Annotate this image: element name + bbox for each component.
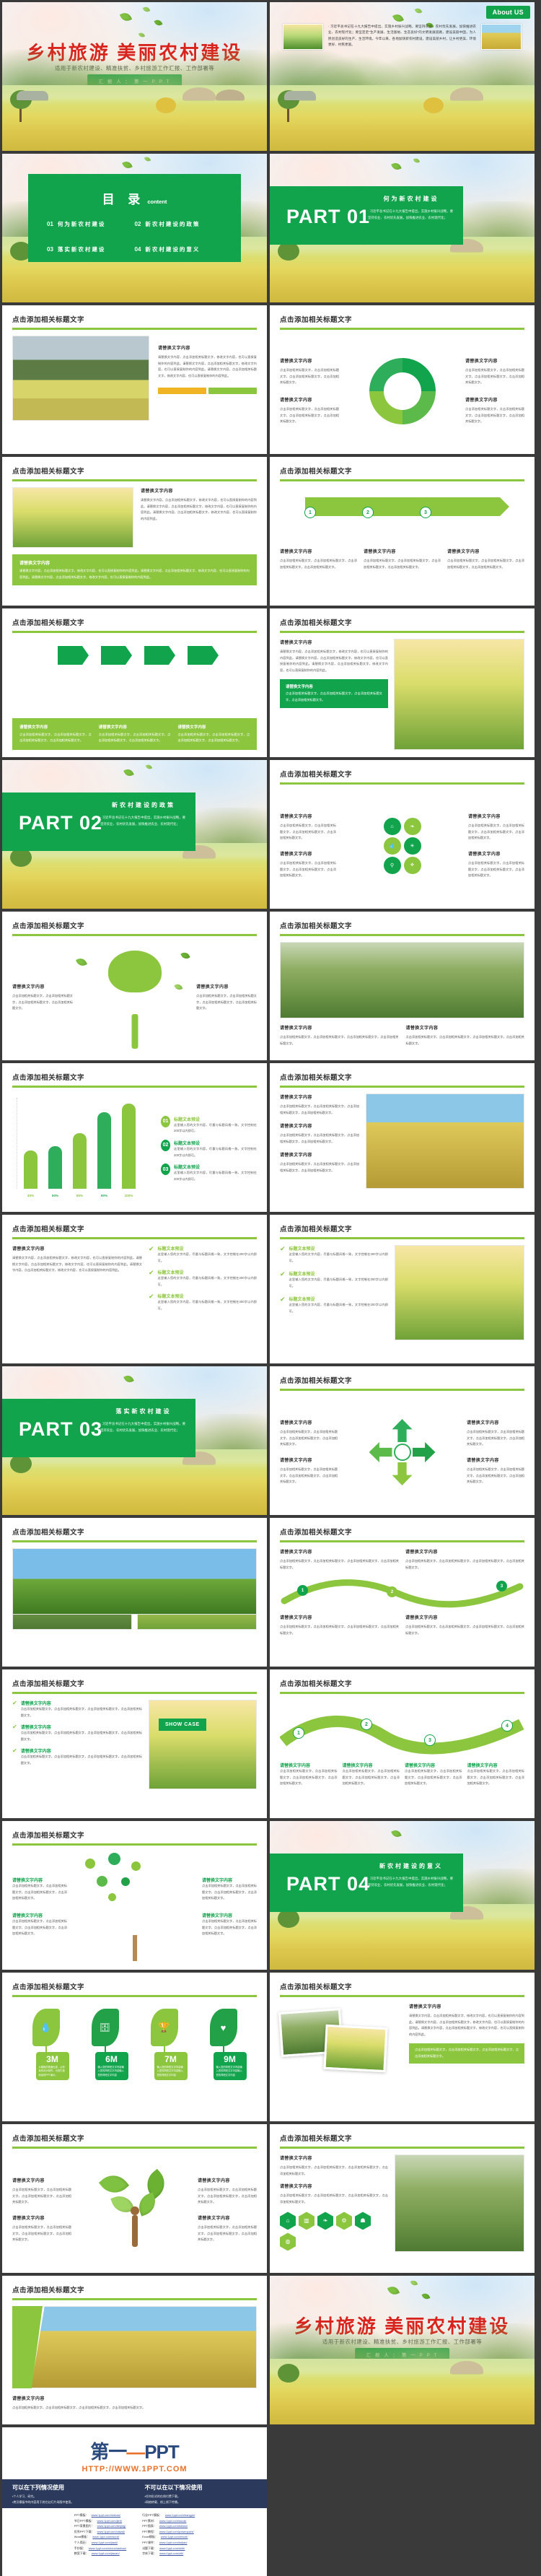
slide-icon-cluster[interactable]: 点击添加相关标题文字 请替换文字内容点击添加相关标题文字，点击添加相关标题文字，… bbox=[270, 760, 535, 909]
catalog-item[interactable]: 02新农村建设的政策 bbox=[135, 220, 223, 228]
ground bbox=[270, 1904, 535, 1970]
milestone-value: 3M bbox=[39, 2055, 66, 2064]
person-head bbox=[131, 2206, 139, 2215]
link-row[interactable]: 试题下载：www.1ppt.com/shiti/ bbox=[142, 2546, 195, 2551]
title-rule bbox=[12, 631, 257, 633]
slide-header: 点击添加相关标题文字 bbox=[12, 314, 257, 324]
caption-title: 请替换文字内容 bbox=[19, 724, 92, 730]
photo-placeholder[interactable] bbox=[12, 336, 149, 421]
check-item[interactable]: ✔标题文本预设这里输入您的文字内容，尽量与标题风格一致，文字控制在200字以内即… bbox=[280, 1245, 388, 1264]
slide-header: 点击添加相关标题文字 bbox=[12, 2284, 257, 2295]
section-subtitle: 请替换文字内容 bbox=[280, 850, 336, 857]
link-url[interactable]: www.1ppt.com/ziti/ bbox=[159, 2551, 183, 2555]
legend-item[interactable]: 01 标题文本预设这里输入您的文字内容，尽量与标题风格一致，文字控制在200字以… bbox=[161, 1116, 257, 1135]
body-paragraph: 点击添加相关标题文字，点击添加相关标题文字，点击添加相关标题文字，点击添加相关标… bbox=[467, 1467, 524, 1485]
catalog-item-number: 02 bbox=[135, 221, 141, 227]
step-title: 请替换文字内容 bbox=[467, 1762, 525, 1768]
slide-ribbon-steps[interactable]: 点击添加相关标题文字 1 2 3 4 请替换文字内容点击添加相关标题文字，点击添… bbox=[270, 1669, 535, 1818]
link-url[interactable]: www.1ppt.com/word/ bbox=[92, 2535, 119, 2538]
highlight-box: 请替换文字内容 点击添加相关标题文字，点击添加相关标题文字，点击添加相关标题文字… bbox=[280, 679, 388, 707]
link-url[interactable]: www.1ppt.com/excel/ bbox=[161, 2535, 188, 2538]
legend-item[interactable]: 02 标题文本预设这里输入您的文字内容，尽量与标题风格一致，文字控制在200字以… bbox=[161, 1140, 257, 1158]
slide-part-04[interactable]: PART 04 新农村建设的意义 · 习近平总书记在十九大报告中提出，实施乡村振… bbox=[270, 1821, 535, 1970]
link-row[interactable]: PPT课件：www.1ppt.com/kejian/ bbox=[142, 2540, 195, 2546]
title-rule bbox=[280, 2147, 524, 2149]
slide-body: 请替换文字内容点击添加相关标题文字，点击添加相关标题文字，点击添加相关标题文字，… bbox=[280, 790, 524, 901]
milestone-item[interactable]: 🏆 7M 输入您的简短文字内容输入您的简短文字内容输入您的简短文字内容 bbox=[138, 2009, 190, 2110]
link-label: Excel模板： bbox=[142, 2535, 158, 2538]
body-paragraph: 点击添加相关标题文字，点击添加相关标题文字，点击添加相关标题文字，点击添加相关标… bbox=[468, 823, 524, 842]
allow-column: 可以在下列情况使用 ▪个人学习、研究。 ▪拷贝模板中的内容用于其它幻灯片母版中使… bbox=[2, 2479, 135, 2508]
winding-path-icon bbox=[280, 1575, 524, 1611]
slide-header: 点击添加相关标题文字 bbox=[280, 1678, 524, 1688]
milestone-card: 6M 输入您的简短文字内容输入您的简短文字内容输入您的简短文字内容 bbox=[95, 2052, 128, 2080]
links-left: PPT模板：www.1ppt.com/moban/ 节日PPT模板：www.1p… bbox=[74, 2512, 126, 2557]
node-body: 点击添加相关标题文字，点击添加相关标题文字，点击添加相关标题文字，点击添加相关标… bbox=[202, 1883, 257, 1902]
photo-placeholder[interactable] bbox=[394, 639, 524, 750]
item-title: 请替换文字内容 bbox=[21, 1747, 142, 1754]
link-row[interactable]: 手抄报：www.1ppt.com/shouchaobao/ bbox=[74, 2546, 126, 2551]
step-marker[interactable]: 2 bbox=[362, 507, 374, 518]
legend-item[interactable]: 03 标题文本预设这里输入您的文字内容，尽量与标题风格一致，文字控制在200字以… bbox=[161, 1163, 257, 1182]
bar-label: 100% bbox=[125, 1194, 133, 1197]
tree-icon[interactable]: ⟡ bbox=[404, 857, 421, 874]
tree-network-graphic[interactable] bbox=[71, 1851, 198, 1962]
link-row[interactable]: Word模板：www.1ppt.com/word/ bbox=[74, 2534, 126, 2540]
hut bbox=[17, 91, 48, 100]
node-body: 点击添加相关标题文字，点击添加相关标题文字，点击添加相关标题文字，点击添加相关标… bbox=[202, 1918, 257, 1937]
home-icon[interactable]: ⌂ bbox=[384, 818, 401, 835]
photo-placeholder[interactable] bbox=[395, 1245, 524, 1340]
slide-about-us[interactable]: About US · 习近平总书记在十九大报告中提出，实施乡村振兴战略，要坚持农… bbox=[270, 2, 535, 151]
milestone-item[interactable]: 💧 3M 从模板的角度出发，从形象的设计制作，为您打造精品的PPT演示。 bbox=[20, 2009, 72, 2110]
check-item[interactable]: ✔标题文本预设这里输入您的文字内容，尽量与标题风格一致，文字控制在200字以内即… bbox=[149, 1245, 257, 1264]
page-title: 点击添加相关标题文字 bbox=[280, 769, 524, 779]
slide-body: 请替换文字内容点击添加相关标题文字，点击添加相关标题文字，点击添加相关标题文字，… bbox=[12, 1851, 257, 1962]
title-rule bbox=[12, 1237, 257, 1239]
caption-paragraph: 点击添加相关标题文字，点击添加相关标题文字，点击添加相关标题文字，点击添加相关标… bbox=[19, 732, 92, 744]
section-subtitle: 请替换文字内容 bbox=[409, 2003, 524, 2009]
bar: 50% bbox=[48, 1146, 62, 1189]
legend-number: 03 bbox=[161, 1163, 170, 1175]
link-label: PPT课件： bbox=[142, 2541, 157, 2544]
drop-icon[interactable]: 💧 bbox=[384, 837, 401, 855]
body-paragraph: 点击添加相关标题文字，点击添加相关标题文字，点击添加相关标题文字，点击添加相关标… bbox=[12, 2224, 71, 2243]
slide-checklist[interactable]: 点击添加相关标题文字 请替换文字内容请替换文字内容，点击添加相关标题文字，修改文… bbox=[2, 1215, 267, 1363]
about-us-tag[interactable]: About US bbox=[486, 6, 530, 19]
link-url[interactable]: www.1ppt.com/sucai/ bbox=[159, 2519, 187, 2523]
title-rule bbox=[280, 1692, 524, 1694]
title-rule bbox=[280, 631, 524, 633]
bar: 45% bbox=[24, 1151, 38, 1189]
photo-placeholder[interactable] bbox=[366, 1093, 524, 1189]
milestone-body: 输入您的简短文字内容输入您的简短文字内容输入您的简短文字内容 bbox=[157, 2066, 185, 2077]
body-paragraph: 点击添加相关标题文字，点击添加相关标题文字，点击添加相关标题文字，点击添加相关标… bbox=[405, 1558, 524, 1571]
bar: 100% bbox=[122, 1104, 136, 1189]
body-paragraph: 点击添加相关标题文字，点击添加相关标题文字，点击添加相关标题文字，点击添加相关标… bbox=[280, 2193, 388, 2205]
about-paragraph: · 习近平总书记在十九大报告中提出，实施乡村振兴战略，要坚持农业、农村优先发展，… bbox=[328, 24, 476, 48]
photo-wheat bbox=[283, 24, 323, 50]
tree-node bbox=[85, 1859, 95, 1869]
tree-icon bbox=[423, 97, 444, 113]
link-url[interactable]: www.1ppt.com/xiazai/ bbox=[97, 2530, 125, 2533]
slide-body: 请替换文字内容点击添加相关标题文字，点击添加相关标题文字，点击添加相关标题文字，… bbox=[12, 942, 257, 1053]
slide-part-01[interactable]: PART 01 何为新农村建设 · 习近平总书记在十九大报告中提出，实施乡村振兴… bbox=[270, 154, 535, 302]
tree-node bbox=[121, 1877, 130, 1886]
page-title: 点击添加相关标题文字 bbox=[280, 2133, 524, 2143]
catalog-item-label: 落实新农村建设 bbox=[58, 245, 106, 253]
slide-body: 请替换文字内容点击添加相关标题文字，点击添加相关标题文字，点击添加相关标题文字，… bbox=[280, 2154, 524, 2266]
tree-node bbox=[108, 1853, 120, 1865]
tree-graphic[interactable] bbox=[73, 942, 196, 1053]
link-row[interactable]: PPT教程：www.1ppt.com/powerpoint/ bbox=[142, 2529, 195, 2535]
slide-header: 点击添加相关标题文字 bbox=[280, 920, 524, 930]
node-body: 点击添加相关标题文字，点击添加相关标题文字，点击添加相关标题文字，点击添加相关标… bbox=[12, 1883, 67, 1902]
slide-header: 点击添加相关标题文字 bbox=[280, 1375, 524, 1385]
body-paragraph: 点击添加相关标题文字，点击添加相关标题文字，点击添加相关标题文字，点击添加相关标… bbox=[12, 993, 73, 1012]
home-icon[interactable]: ⌂ bbox=[280, 2212, 296, 2230]
photo-placeholder[interactable] bbox=[31, 2306, 257, 2388]
list-item[interactable]: ✔请替换文字内容点击添加相关标题文字，点击添加相关标题文字，点击添加相关标题文字… bbox=[12, 1724, 142, 1742]
link-row[interactable]: PPT模板：www.1ppt.com/moban/ bbox=[74, 2512, 126, 2518]
catalog-title: 目 录content bbox=[28, 189, 241, 207]
page-title: 点击添加相关标题文字 bbox=[280, 617, 524, 627]
section-subtitle: 请替换文字内容 bbox=[447, 548, 524, 554]
catalog-item[interactable]: 03落实新农村建设 bbox=[47, 245, 135, 253]
part-panel: PART 01 何为新农村建设 · 习近平总书记在十九大报告中提出，实施乡村振兴… bbox=[270, 186, 463, 245]
slide-image-text[interactable]: 点击添加相关标题文字 请替换文字内容 请替换文字内容，点击添加相关标题文字，修改… bbox=[2, 305, 267, 454]
tree-icon bbox=[278, 2364, 299, 2383]
body-paragraph: 请替换文字内容，点击添加相关标题文字，修改文字内容，也可以直接复制你的内容到此。… bbox=[12, 1255, 142, 1274]
ground bbox=[2, 1449, 267, 1515]
section-subtitle: 请替换文字内容 bbox=[280, 1614, 399, 1620]
legend-title: 标题文本预设 bbox=[174, 1140, 257, 1146]
link-url[interactable]: www.1ppt.com/shiti/ bbox=[159, 2546, 185, 2550]
deny-item: ▪网络转载、线上线下传播。 bbox=[145, 2499, 260, 2505]
link-url[interactable]: www.1ppt.com/shouchaobao/ bbox=[89, 2546, 126, 2550]
body-paragraph: 点击添加相关标题文字，点击添加相关标题文字，点击添加相关标题文字，点击添加相关标… bbox=[447, 558, 524, 570]
section-subtitle: 请替换文字内容 bbox=[12, 983, 73, 990]
slide-photo-caption[interactable]: 点击添加相关标题文字 请替换文字内容 请替换文字内容，点击添加相关标题文字，修改… bbox=[2, 457, 267, 606]
slide-milestones[interactable]: 点击添加相关标题文字 💧 3M 从模板的角度出发，从形象的设计制作，为您打造精品… bbox=[2, 1973, 267, 2121]
link-row[interactable]: 个人简历：www.1ppt.com/jianli/ bbox=[74, 2540, 126, 2546]
milestone-item[interactable]: 🗄 6M 输入您的简短文字内容输入您的简短文字内容输入您的简短文字内容 bbox=[79, 2009, 131, 2110]
section-subtitle: 请替换文字内容 bbox=[280, 1419, 338, 1425]
check-item[interactable]: ✔标题文本预设这里输入您的文字内容，尽量与标题风格一致，文字控制在200字以内即… bbox=[149, 1293, 257, 1311]
leaf-icon[interactable]: ❧ bbox=[404, 818, 421, 835]
brand-dash: — bbox=[126, 2441, 144, 2463]
link-url[interactable]: www.1ppt.com/hangye/ bbox=[165, 2513, 195, 2517]
ground bbox=[2, 843, 267, 909]
title-rule bbox=[280, 934, 524, 936]
part-number: PART 04 bbox=[286, 1873, 370, 1895]
slide-header: 点击添加相关标题文字 bbox=[280, 466, 524, 476]
gear-icon[interactable]: ⚙ bbox=[336, 2212, 352, 2230]
slide-path-steps[interactable]: 点击添加相关标题文字 请替换文字内容点击添加相关标题文字，点击添加相关标题文字，… bbox=[270, 1518, 535, 1667]
section-subtitle: 请替换文字内容 bbox=[280, 1024, 399, 1031]
milestone-value: 7M bbox=[157, 2055, 185, 2064]
node-title: 请替换文字内容 bbox=[202, 1877, 257, 1883]
highlight-title: 请替换文字内容 bbox=[286, 684, 382, 689]
step-body: 点击添加相关标题文字，点击添加相关标题文字，点击添加相关标题文字，点击添加相关标… bbox=[280, 1768, 338, 1787]
leaf-icon bbox=[98, 2169, 128, 2199]
link-url[interactable]: www.1ppt.com/jianli/ bbox=[92, 2541, 118, 2544]
link-label: PPT背景图片： bbox=[74, 2524, 94, 2528]
link-row[interactable]: 节日PPT模板：www.1ppt.com/jieri/ bbox=[74, 2518, 126, 2524]
bar: 65% bbox=[73, 1133, 87, 1189]
people-icon[interactable]: ☗ bbox=[355, 2212, 371, 2230]
slide-photo-cards[interactable]: 点击添加相关标题文字 01 标题文本预设 02 标题文本预设 03 标题文本预设 bbox=[2, 1518, 267, 1667]
page-title: 点击添加相关标题文字 bbox=[12, 2133, 257, 2143]
link-label: Word模板： bbox=[74, 2535, 89, 2538]
chevron-step[interactable] bbox=[188, 646, 212, 665]
link-url[interactable]: www.1ppt.com/moban/ bbox=[92, 2513, 120, 2517]
page-title: 点击添加相关标题文字 bbox=[280, 1678, 524, 1688]
section-subtitle: 请替换文字内容 bbox=[280, 813, 336, 819]
link-row[interactable]: 优秀PPT下载：www.1ppt.com/xiazai/ bbox=[74, 2529, 126, 2535]
slide-panel-photo[interactable]: 点击添加相关标题文字 请替换文字内容 请替换文字内容，点击添加相关标题文字，修改… bbox=[270, 608, 535, 757]
leaf-person-graphic[interactable] bbox=[76, 2167, 193, 2253]
title-rule bbox=[12, 1540, 257, 1542]
caption-box: 请替换文字内容 请替换文字内容，点击添加相关标题文字，修改文字内容，也可以直接复… bbox=[12, 554, 257, 585]
slide-header: 点击添加相关标题文字 bbox=[12, 1981, 257, 1991]
title-rule bbox=[12, 2147, 257, 2149]
slide-photo-list[interactable]: 点击添加相关标题文字 请替换文字内容点击添加相关标题文字，点击添加相关标题文字，… bbox=[270, 1063, 535, 1212]
slide-part-02[interactable]: PART 02 新农村建设的政策 · 习近平总书记在十九大报告中提出，实施乡村振… bbox=[2, 760, 267, 909]
ribbon-step[interactable]: 1 bbox=[293, 1727, 304, 1739]
slide-ending[interactable]: 乡村旅游 美丽农村建设 适用于新农村建设、精准扶贫、乡村旅游工作汇报、工作部署等… bbox=[270, 2276, 535, 2424]
milestone-card: 3M 从模板的角度出发，从形象的设计制作，为您打造精品的PPT演示。 bbox=[36, 2052, 69, 2080]
link-label: 教案下载： bbox=[74, 2551, 89, 2555]
link-url[interactable]: www.1ppt.com/jiaoan/ bbox=[92, 2551, 120, 2555]
check-body: 这里输入您的文字内容，尽量与标题风格一致，文字控制在200字以内即可。 bbox=[158, 1299, 257, 1311]
slide-wheat-checks[interactable]: 点击添加相关标题文字 ✔标题文本预设这里输入您的文字内容，尽量与标题风格一致，文… bbox=[270, 1215, 535, 1363]
allow-item: ▪个人学习、研究。 bbox=[12, 2494, 128, 2499]
title-rule bbox=[280, 1995, 524, 1997]
slide-catalog[interactable]: 目 录content 01何为新农村建设 02新农村建设的政策 03落实新农村建… bbox=[2, 154, 267, 302]
body-paragraph: 点击添加相关标题文字，点击添加相关标题文字，点击添加相关标题文字，点击添加相关标… bbox=[364, 558, 441, 570]
check-body: 这里输入您的文字内容，尽量与标题风格一致，文字控制在200字以内即可。 bbox=[289, 1252, 388, 1264]
slide-body: 请替换文字内容点击添加相关标题文字，点击添加相关标题文字，点击添加相关标题文字，… bbox=[280, 1548, 524, 1659]
link-url[interactable]: www.1ppt.com/powerpoint/ bbox=[159, 2530, 194, 2533]
section-subtitle: 请替换文字内容 bbox=[280, 357, 339, 364]
check-item[interactable]: ✔标题文本预设这里输入您的文字内容，尽量与标题风格一致，文字控制在200字以内即… bbox=[149, 1269, 257, 1288]
step-marker[interactable]: 1 bbox=[304, 507, 316, 518]
check-item[interactable]: ✔标题文本预设这里输入您的文字内容，尽量与标题风格一致，文字控制在200字以内即… bbox=[280, 1270, 388, 1289]
sun-icon[interactable]: ☀ bbox=[404, 837, 421, 855]
slide-polaroids[interactable]: 点击添加相关标题文字 请替换文字内容 请替换文字内容，点击添加相关标题文字，修改… bbox=[270, 1973, 535, 2121]
body-paragraph: 点击添加相关标题文字，点击添加相关标题文字，点击添加相关标题文字，点击添加相关标… bbox=[280, 1132, 359, 1145]
trophy-icon: 🏆 bbox=[151, 2009, 178, 2046]
slide-header: 点击添加相关标题文字 bbox=[280, 1223, 524, 1234]
link-row[interactable]: 字体下载：www.1ppt.com/ziti/ bbox=[142, 2551, 195, 2557]
milestone-body: 输入您的简短文字内容输入您的简短文字内容输入您的简短文字内容 bbox=[98, 2066, 126, 2077]
page-title: 点击添加相关标题文字 bbox=[12, 1072, 257, 1082]
pinwheel-hub bbox=[394, 1444, 411, 1461]
brand-name-cn: 第一 bbox=[90, 2441, 126, 2463]
catalog-list: 01何为新农村建设 02新农村建设的政策 03落实新农村建设 04新农村建设的意… bbox=[28, 220, 241, 253]
link-label: 个人简历： bbox=[74, 2541, 89, 2544]
catalog-item-label: 何为新农村建设 bbox=[58, 220, 106, 228]
donut-chart[interactable] bbox=[369, 358, 436, 424]
link-row[interactable]: PPT背景图片：www.1ppt.com/beijing/ bbox=[74, 2523, 126, 2529]
link-row[interactable]: Excel模板：www.1ppt.com/excel/ bbox=[142, 2534, 195, 2540]
usage-terms: 可以在下列情况使用 ▪个人学习、研究。 ▪拷贝模板中的内容用于其它幻灯片母版中使… bbox=[2, 2479, 267, 2508]
search-icon[interactable]: ⚲ bbox=[384, 857, 401, 874]
brand-name-en: PPT bbox=[144, 2441, 179, 2463]
leaf-icon[interactable]: ❧ bbox=[317, 2212, 333, 2230]
page-title: 点击添加相关标题文字 bbox=[12, 1527, 257, 1537]
ribbon-step[interactable]: 4 bbox=[501, 1720, 513, 1732]
link-url[interactable]: www.1ppt.com/tubiao/ bbox=[159, 2524, 188, 2528]
page-title: 点击添加相关标题文字 bbox=[12, 466, 257, 476]
check-icon: ✔ bbox=[280, 1296, 286, 1304]
slide-angled-banner[interactable]: 点击添加相关标题文字 请替换文字内容 点击添加相关标题文字，点击添加相关标题文字… bbox=[2, 2276, 267, 2424]
slide-arrow-steps[interactable]: 点击添加相关标题文字 1 2 3 请替换文字内容点击添加相关标题文字，点击添加相… bbox=[270, 457, 535, 606]
bar-chart-plot[interactable]: 45% 50% 65% 90% 100% bbox=[12, 1093, 154, 1205]
ribbon-step[interactable]: 3 bbox=[424, 1734, 436, 1746]
section-subtitle: 请替换文字内容 bbox=[280, 1093, 359, 1100]
part-paragraph: · 习近平总书记在十九大报告中提出，实施乡村振兴战略，要坚持农业、农村优先发展，… bbox=[368, 1875, 453, 1889]
milestone-item[interactable]: ♥ 9M 输入您的简短文字内容输入您的简短文字内容输入您的简短文字内容 bbox=[198, 2009, 250, 2110]
title-rule bbox=[280, 1086, 524, 1088]
chevron-step[interactable] bbox=[144, 646, 169, 665]
catalog-item[interactable]: 01何为新农村建设 bbox=[47, 220, 135, 228]
body-paragraph: 点击添加相关标题文字，点击添加相关标题文字，点击添加相关标题文字，点击添加相关标… bbox=[198, 2187, 257, 2206]
slide-part-03[interactable]: PART 03 落实新农村建设 · 习近平总书记在十九大报告中提出，实施乡村振兴… bbox=[2, 1366, 267, 1515]
check-item[interactable]: ✔标题文本预设这里输入您的文字内容，尽量与标题风格一致，文字控制在200字以内即… bbox=[280, 1296, 388, 1314]
check-title: 标题文本预设 bbox=[158, 1245, 257, 1252]
slide-donut[interactable]: 点击添加相关标题文字 请替换文字内容 点击添加相关标题文字，点击添加相关标题文字… bbox=[270, 305, 535, 454]
page-title: 点击添加相关标题文字 bbox=[12, 1678, 257, 1688]
node-title: 请替换文字内容 bbox=[12, 1912, 67, 1918]
slide-leaf-person[interactable]: 点击添加相关标题文字 请替换文字内容点击添加相关标题文字，点击添加相关标题文字，… bbox=[2, 2124, 267, 2273]
page-title: 点击添加相关标题文字 bbox=[280, 1072, 524, 1082]
slide-pinwheel[interactable]: 点击添加相关标题文字 请替换文字内容点击添加相关标题文字，点击添加相关标题文字，… bbox=[270, 1366, 535, 1515]
title-rule bbox=[12, 479, 257, 481]
slide-tree-network[interactable]: 点击添加相关标题文字 请替换文字内容点击添加相关标题文字，点击添加相关标题文字，… bbox=[2, 1821, 267, 1970]
link-row[interactable]: PPT图表：www.1ppt.com/tubiao/ bbox=[142, 2523, 195, 2529]
catalog-item-label: 新农村建设的政策 bbox=[145, 220, 200, 228]
section-subtitle: 请替换文字内容 bbox=[141, 487, 257, 494]
link-url[interactable]: www.1ppt.com/jieri/ bbox=[97, 2519, 122, 2523]
section-subtitle: 请替换文字内容 bbox=[196, 983, 257, 990]
caption-title: 请替换文字内容 bbox=[99, 724, 171, 730]
step-body: 点击添加相关标题文字，点击添加相关标题文字，点击添加相关标题文字，点击添加相关标… bbox=[405, 1768, 462, 1787]
legend-title: 标题文本预设 bbox=[174, 1116, 257, 1122]
list-item[interactable]: ✔请替换文字内容点击添加相关标题文字，点击添加相关标题文字，点击添加相关标题文字… bbox=[12, 1700, 142, 1719]
section-subtitle: 请替换文字内容 bbox=[12, 2177, 71, 2183]
part-paragraph: · 习近平总书记在十九大报告中提出，实施乡村振兴战略，要坚持农业、农村优先发展，… bbox=[100, 814, 185, 828]
title-rule bbox=[280, 1540, 524, 1542]
photo-placeholder[interactable] bbox=[149, 1700, 257, 1789]
page-title: 点击添加相关标题文字 bbox=[280, 1223, 524, 1234]
chevron-step[interactable] bbox=[101, 646, 126, 665]
section-subtitle: 请替换文字内容 bbox=[12, 2214, 71, 2221]
link-label: 字体下载： bbox=[142, 2551, 157, 2555]
part-heading: 落实新农村建设 bbox=[100, 1407, 187, 1415]
body-paragraph: 点击添加相关标题文字，点击添加相关标题文字，点击添加相关标题文字，点击添加相关标… bbox=[405, 1624, 524, 1636]
slide-cover[interactable]: 乡村旅游 美丽农村建设 适用于新农村建设、精准扶贫、乡村旅游工作汇报、工作部署等… bbox=[2, 2, 267, 151]
photo-placeholder[interactable] bbox=[323, 2025, 387, 2072]
caption-box: 点击添加相关标题文字，点击添加相关标题文字，点击添加相关标题文字，点击添加相关标… bbox=[409, 2043, 524, 2063]
part-number: PART 03 bbox=[19, 1418, 102, 1441]
progress-pill-green bbox=[208, 388, 257, 394]
link-label: 试题下载： bbox=[142, 2546, 157, 2550]
check-icon: ✔ bbox=[12, 1747, 17, 1766]
pinwheel-graphic[interactable] bbox=[341, 1419, 463, 1485]
tree-trunk bbox=[133, 1935, 137, 1961]
body-paragraph: 点击添加相关标题文字，点击添加相关标题文字，点击添加相关标题文字，点击添加相关标… bbox=[196, 993, 257, 1012]
slide-hex-grid[interactable]: 点击添加相关标题文字 请替换文字内容点击添加相关标题文字，点击添加相关标题文字，… bbox=[270, 2124, 535, 2273]
photo-placeholder[interactable] bbox=[12, 487, 133, 548]
link-row[interactable]: 教案下载：www.1ppt.com/jiaoan/ bbox=[74, 2551, 126, 2557]
section-subtitle: 请替换文字内容 bbox=[280, 2154, 388, 2161]
ground bbox=[270, 237, 535, 302]
part-panel: PART 04 新农村建设的意义 · 习近平总书记在十九大报告中提出，实施乡村振… bbox=[270, 1854, 463, 1912]
part-paragraph: · 习近平总书记在十九大报告中提出，实施乡村振兴战略，要坚持农业、农村优先发展，… bbox=[368, 208, 453, 222]
ribbon-step[interactable]: 2 bbox=[361, 1719, 372, 1730]
list-item[interactable]: ✔请替换文字内容点击添加相关标题文字，点击添加相关标题文字，点击添加相关标题文字… bbox=[12, 1747, 142, 1766]
body-paragraph: 点击添加相关标题文字，点击添加相关标题文字，点击添加相关标题文字，点击添加相关标… bbox=[280, 2165, 388, 2177]
slide-1ppt-footer[interactable]: 第一—PPT HTTP://WWW.1PPT.COM 可以在下列情况使用 ▪个人… bbox=[2, 2427, 267, 2576]
body-paragraph: 点击添加相关标题文字，点击添加相关标题文字，点击添加相关标题文字，点击添加相关标… bbox=[280, 1429, 338, 1448]
legend-title: 标题文本预设 bbox=[174, 1163, 257, 1170]
caption-title: 请替换文字内容 bbox=[177, 724, 250, 730]
body-paragraph: 点击添加相关标题文字，点击添加相关标题文字，点击添加相关标题文字，点击添加相关标… bbox=[280, 1558, 399, 1571]
page-title: 点击添加相关标题文字 bbox=[12, 1981, 257, 1991]
body-paragraph: 点击添加相关标题文字，点击添加相关标题文字，点击添加相关标题文字，点击添加相关标… bbox=[280, 1034, 399, 1047]
path-graphic[interactable]: 1 2 3 bbox=[280, 1575, 524, 1611]
link-row[interactable]: 行业PPT模板：www.1ppt.com/hangye/ bbox=[142, 2512, 195, 2518]
catalog-item[interactable]: 04新农村建设的意义 bbox=[135, 245, 223, 253]
step-body: 点击添加相关标题文字，点击添加相关标题文字，点击添加相关标题文字，点击添加相关标… bbox=[343, 1768, 400, 1787]
caption-paragraph: 点击添加相关标题文字，点击添加相关标题文字，点击添加相关标题文字，点击添加相关标… bbox=[99, 732, 171, 744]
caption-paragraph: 请替换文字内容，点击添加相关标题文字，修改文字内容，也可以直接复制你的内容到此。… bbox=[19, 568, 250, 580]
photo-placeholder[interactable] bbox=[280, 942, 524, 1018]
photo-placeholder[interactable] bbox=[12, 1548, 257, 1615]
check-body: 这里输入您的文字内容，尽量与标题风格一致，文字控制在200字以内即可。 bbox=[158, 1275, 257, 1288]
slide-header: 点击添加相关标题文字 bbox=[12, 1830, 257, 1840]
slide-body: ✔请替换文字内容点击添加相关标题文字，点击添加相关标题文字，点击添加相关标题文字… bbox=[12, 1700, 257, 1811]
legend-body: 这里输入您的文字内容，尽量与标题风格一致，文字控制在200字以内即可。 bbox=[174, 1170, 257, 1182]
photo-placeholder[interactable] bbox=[395, 2154, 524, 2252]
leaf-icon bbox=[76, 956, 87, 968]
check-title: 标题文本预设 bbox=[289, 1245, 388, 1252]
chevron-step[interactable] bbox=[58, 646, 82, 665]
page-title: 点击添加相关标题文字 bbox=[280, 314, 524, 324]
link-url[interactable]: www.1ppt.com/kejian/ bbox=[159, 2541, 188, 2544]
slide-bar-chart[interactable]: 点击添加相关标题文字 45% 50% 65% 90% 100% 01 bbox=[2, 1063, 267, 1212]
tree-node bbox=[108, 1893, 116, 1901]
chart-icon[interactable]: ▥ bbox=[299, 2212, 315, 2230]
ribbon-graphic[interactable]: 1 2 3 4 bbox=[280, 1711, 524, 1759]
step-marker[interactable]: 3 bbox=[420, 507, 431, 518]
slide-show-case[interactable]: 点击添加相关标题文字 ✔请替换文字内容点击添加相关标题文字，点击添加相关标题文字… bbox=[2, 1669, 267, 1818]
globe-icon[interactable]: ◍ bbox=[280, 2232, 296, 2250]
link-url[interactable]: www.1ppt.com/beijing/ bbox=[97, 2524, 126, 2528]
link-row[interactable]: PPT素材：www.1ppt.com/sucai/ bbox=[142, 2518, 195, 2524]
legend-number: 02 bbox=[161, 1140, 170, 1151]
check-icon: ✔ bbox=[280, 1270, 286, 1278]
deny-title: 不可以在以下情况使用 bbox=[145, 2484, 260, 2492]
slide-tree-diagram[interactable]: 点击添加相关标题文字 请替换文字内容点击添加相关标题文字，点击添加相关标题文字，… bbox=[2, 912, 267, 1060]
check-body: 这里输入您的文字内容，尽量与标题风格一致，文字控制在200字以内即可。 bbox=[158, 1252, 257, 1264]
section-subtitle: 请替换文字内容 bbox=[198, 2177, 257, 2183]
slide-chevron-timeline[interactable]: 点击添加相关标题文字 请替换文字内容点击添加相关标题文字，点击添加相关标题文字，… bbox=[2, 608, 267, 757]
title-rule bbox=[280, 1237, 524, 1239]
slide-terraces[interactable]: 点击添加相关标题文字 请替换文字内容点击添加相关标题文字，点击添加相关标题文字，… bbox=[270, 912, 535, 1060]
